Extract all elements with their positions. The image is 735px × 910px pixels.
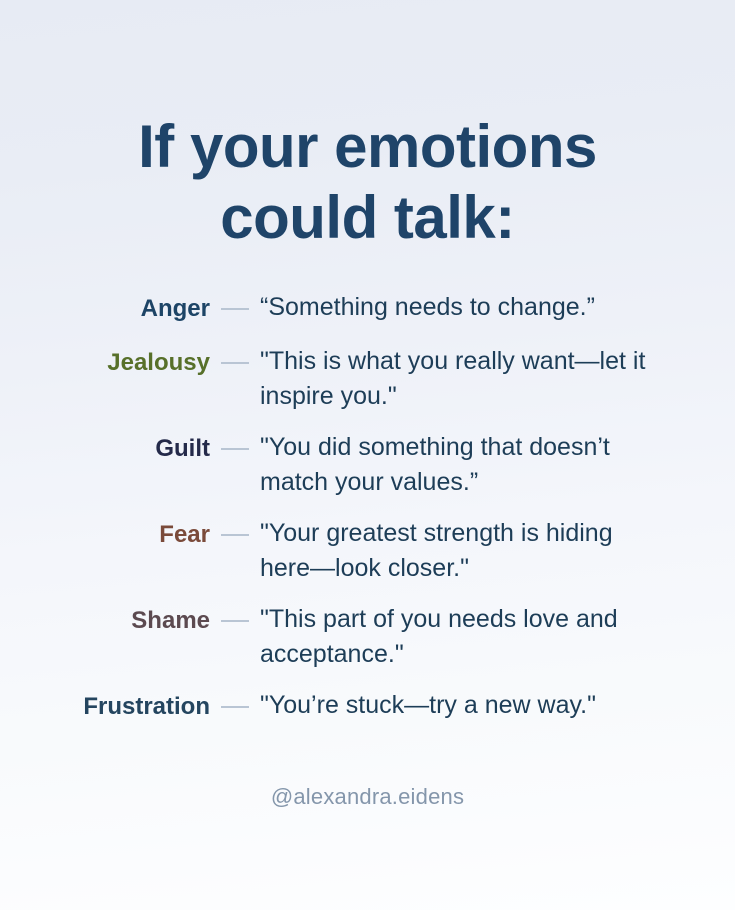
title-line-2: could talk: [40,183,695,254]
emotion-quote-jealousy: "This is what you really want—let it ins… [260,344,690,414]
emotion-quote-fear: "Your greatest strength is hiding here—l… [260,516,690,586]
list-item: Jealousy "This is what you really want—l… [0,344,735,414]
page-title: If your emotions could talk: [0,112,735,254]
em-dash-separator [210,430,260,468]
emotion-label-guilt: Guilt [0,430,210,468]
em-dash-separator [210,602,260,640]
em-dash-separator [210,290,260,328]
emotion-quote-frustration: "You’re stuck—try a new way." [260,688,690,723]
emotion-label-fear: Fear [0,516,210,554]
emotion-quote-anger: “Something needs to change.” [260,290,690,325]
list-item: Frustration "You’re stuck—try a new way.… [0,688,735,726]
emotion-quote-guilt: "You did something that doesn’t match yo… [260,430,690,500]
list-item: Shame "This part of you needs love and a… [0,602,735,672]
emotion-list: Anger “Something needs to change.” Jealo… [0,290,735,742]
list-item: Fear "Your greatest strength is hiding h… [0,516,735,586]
emotion-label-anger: Anger [0,290,210,328]
em-dash-separator [210,516,260,554]
title-line-1: If your emotions [40,112,695,183]
list-item: Guilt "You did something that doesn’t ma… [0,430,735,500]
poster-canvas: If your emotions could talk: Anger “Some… [0,0,735,910]
em-dash-separator [210,344,260,382]
emotion-label-frustration: Frustration [0,688,210,726]
emotion-label-shame: Shame [0,602,210,640]
emotion-label-jealousy: Jealousy [0,344,210,382]
author-handle: @alexandra.eidens [0,784,735,810]
em-dash-separator [210,688,260,726]
list-item: Anger “Something needs to change.” [0,290,735,328]
emotion-quote-shame: "This part of you needs love and accepta… [260,602,690,672]
